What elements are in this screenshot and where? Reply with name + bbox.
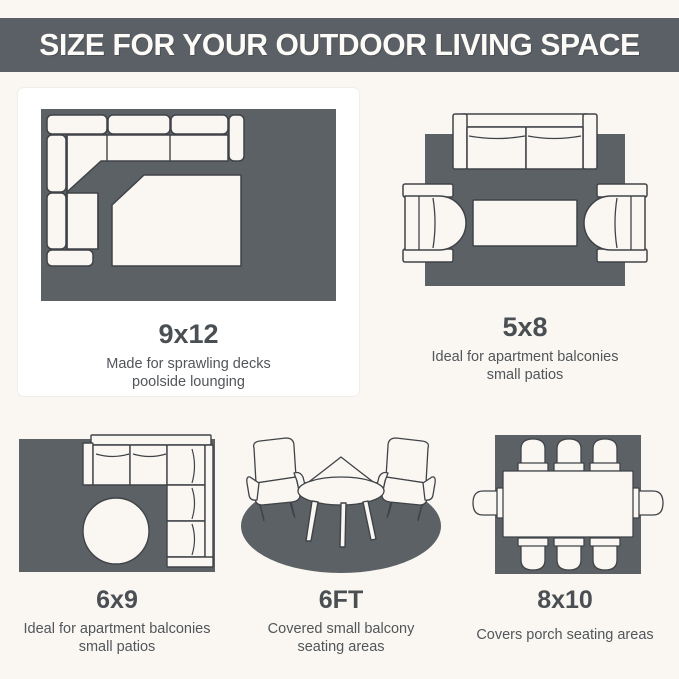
description-line-2: small patios [432,367,619,385]
card-9x12[interactable]: 9x12 Made for sprawling decks poolside l… [18,88,359,396]
description-line-1: Covers porch seating areas [476,627,653,645]
figure-6ft [236,433,446,576]
description-line-1: Covered small balcony [268,621,415,639]
size-guide-infographic: SIZE FOR YOUR OUTDOOR LIVING SPACE [0,0,679,679]
description-9x12: Made for sprawling decks poolside loungi… [106,356,270,391]
figure-6x9 [17,433,217,576]
size-label-9x12: 9x12 [158,321,218,348]
card-5x8[interactable]: 5x8 Ideal for apartment balconies small … [385,88,665,388]
description-line-1: Ideal for apartment balconies [432,349,619,367]
description-line-2: seating areas [268,639,415,657]
rug-rectangular-sectional-chaise-icon [41,109,336,301]
size-label-6x9: 6x9 [96,588,138,613]
size-label-8x10: 8x10 [537,588,593,613]
description-line-2: small patios [24,639,211,657]
size-label-6ft: 6FT [319,588,363,613]
size-label-5x8: 5x8 [502,314,547,341]
card-8x10[interactable]: 8x10 Covers porch seating areas [454,425,676,665]
figure-5x8 [399,110,651,298]
description-8x10: Covers porch seating areas [476,627,653,645]
description-line-2: poolside lounging [106,374,270,392]
description-6x9: Ideal for apartment balconies small pati… [24,621,211,656]
rug-rectangular-sofa-two-chairs-coffee-table-icon [399,110,651,298]
description-6ft: Covered small balcony seating areas [268,621,415,656]
figure-8x10 [465,433,665,576]
description-line-1: Made for sprawling decks [106,356,270,374]
description-line-1: Ideal for apartment balconies [24,621,211,639]
header-bar: SIZE FOR YOUR OUTDOOR LIVING SPACE [0,18,679,72]
card-6x9[interactable]: 6x9 Ideal for apartment balconies small … [6,425,228,665]
card-row-bottom: 6x9 Ideal for apartment balconies small … [0,425,679,675]
description-5x8: Ideal for apartment balconies small pati… [432,349,619,384]
card-6ft[interactable]: 6FT Covered small balcony seating areas [230,425,452,665]
page-title: SIZE FOR YOUR OUTDOOR LIVING SPACE [39,27,640,63]
card-row-top: 9x12 Made for sprawling decks poolside l… [0,80,679,405]
figure-9x12 [41,109,336,301]
rug-rectangular-dining-table-eight-chairs-icon [465,433,665,576]
rug-rectangular-corner-sectional-round-table-icon [17,433,217,576]
rug-round-two-armchairs-round-table-icon [236,433,446,576]
